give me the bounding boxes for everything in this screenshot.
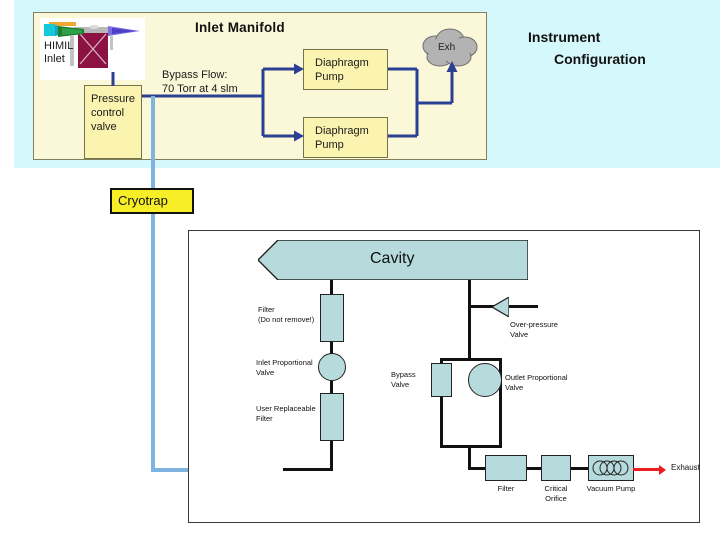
pipe-cavity-to-filter (330, 280, 333, 294)
cryotrap-pipe-vertical (151, 96, 155, 472)
inlet-proportional-valve-circle (318, 353, 346, 381)
page-title-line2: Configuration (528, 48, 646, 70)
pipe-orifice-to-pump (571, 467, 588, 470)
vacuum-pump-label: Vacuum Pump (583, 484, 639, 494)
filter-do-not-remove-label: Filter (Do not remove!) (258, 305, 318, 325)
pipe-user-filter-to-cryo (283, 468, 333, 471)
over-pressure-valve-outline (492, 297, 509, 317)
bypass-valve-box (431, 363, 452, 397)
user-replaceable-filter-label: User Replaceable Filter (256, 404, 320, 424)
pipe-cavity-right-down (468, 280, 471, 358)
cavity-label: Cavity (370, 250, 414, 268)
over-pressure-valve-label: Over-pressure Valve (510, 320, 570, 340)
outlet-proportional-valve-label: Outlet Proportional Valve (505, 373, 575, 393)
outlet-proportional-valve-circle (468, 363, 502, 397)
pipe-loop-bottom (440, 445, 502, 448)
inlet-proportional-valve-label: Inlet Proportional Valve (256, 358, 318, 378)
pipe-filter-to-orifice (527, 467, 542, 470)
pipe-bottom-train-left (468, 467, 486, 470)
page-title: Instrument Configuration (528, 26, 646, 70)
cryotrap-box: Cryotrap (110, 188, 194, 214)
pipe-overpressure-out (509, 305, 538, 308)
pipe-inlet-valve-to-user-filter (330, 381, 333, 393)
pipe-loop-top (440, 358, 502, 361)
bypass-valve-label: Bypass Valve (391, 370, 431, 390)
exhaust-label: Exhaust (671, 463, 700, 472)
pipe-to-overpressure-valve (468, 305, 494, 308)
critical-orifice-box (541, 455, 571, 481)
exhaust-filter-label: Filter (485, 484, 527, 494)
pipe-user-filter-down (330, 441, 333, 471)
critical-orifice-label: Critical Orifice (539, 484, 573, 504)
himil-inlet-label: HIMIL Inlet (44, 40, 73, 66)
filter-do-not-remove-box (320, 294, 344, 342)
exhaust-arrow-line (633, 468, 661, 471)
user-replaceable-filter-box (320, 393, 344, 441)
pipe-loop-to-bottom-train (468, 445, 471, 469)
exhaust-filter-box (485, 455, 527, 481)
page-title-line1: Instrument (528, 29, 600, 45)
exhaust-arrow-head-icon (659, 465, 666, 475)
vacuum-pump-coil-icon (591, 458, 631, 478)
